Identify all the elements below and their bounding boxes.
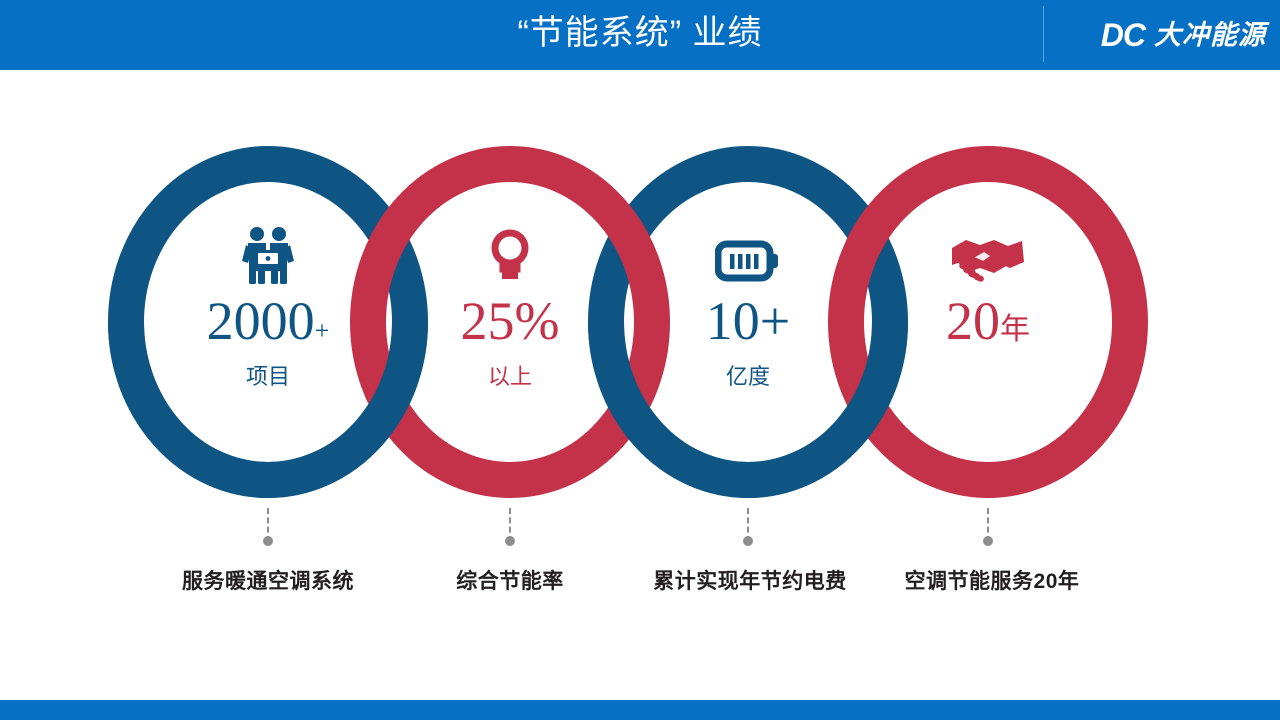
stat-unit-3: 亿度 (633, 362, 863, 392)
stat-value-3: 10+ (633, 292, 863, 360)
connector-dot-3 (743, 536, 753, 546)
connector-dot-4 (983, 536, 993, 546)
handshake-icon (873, 222, 1103, 288)
stat-card-3: 10+ 亿度 (633, 222, 863, 392)
stat-card-2: 25% 以上 (395, 222, 625, 392)
lightbulb-icon (395, 222, 625, 288)
battery-icon (633, 222, 863, 288)
stat-value-1: 2000+ (153, 292, 383, 360)
caption-2: 综合节能率 (380, 565, 640, 595)
footer-bar (0, 700, 1280, 720)
caption-4: 空调节能服务20年 (862, 565, 1122, 595)
stat-unit-2: 以上 (395, 362, 625, 392)
stat-value-2: 25% (395, 292, 625, 360)
stat-value-4: 20年 (873, 292, 1103, 359)
stat-card-4: 20年 (873, 222, 1103, 361)
connector-dot-2 (505, 536, 515, 546)
caption-3: 累计实现年节约电费 (620, 565, 880, 595)
slide-canvas: “节能系统” 业绩 DC 大冲能源 (0, 0, 1280, 720)
two-people-with-laptop-icon (153, 222, 383, 288)
caption-1: 服务暖通空调系统 (138, 565, 398, 595)
stat-suffix-4: 年 (1000, 313, 1030, 346)
connector-dot-1 (263, 536, 273, 546)
stat-card-1: 2000+ 项目 (153, 222, 383, 392)
stat-suffix-1: + (315, 316, 330, 345)
stat-unit-1: 项目 (153, 362, 383, 392)
